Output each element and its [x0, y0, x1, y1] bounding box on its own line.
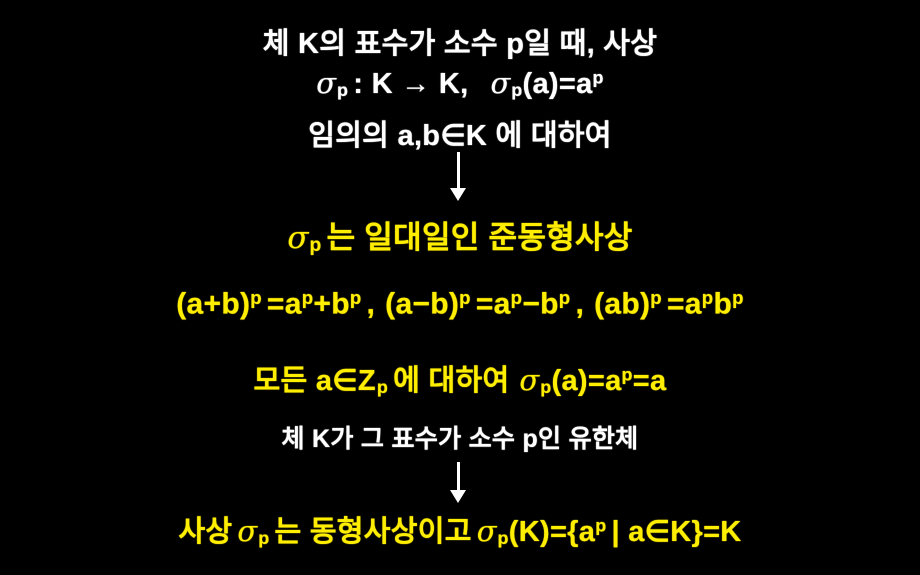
identity-1-eq: =a: [267, 288, 302, 321]
identity-1-plus: +b: [313, 288, 349, 321]
fermat-little-theorem-line: 모든 a∈Zp에 대하여σp(a)=ap=a: [0, 357, 920, 399]
arrow-head: [450, 490, 466, 503]
exponent-p: p: [593, 68, 604, 88]
freshmans-dream-identities: (a+b)p=ap+bp,(a−b)p=ap−bp,(ab)p=apbp: [0, 287, 920, 322]
sigma-symbol: σ: [490, 66, 510, 100]
line8-formula: (K)={a: [509, 516, 595, 548]
hypothesis-finite-field-line: 체 K가 그 표수가 소수 p인 유한체: [0, 419, 920, 455]
exponent-p: p: [622, 365, 633, 385]
frobenius-formula: (a)=a: [523, 68, 593, 100]
exponent-p: p: [250, 287, 262, 308]
line8-text-pre: 사상: [178, 516, 232, 548]
line1-text: 체 K의 표수가 소수 p일 때, 사상: [263, 28, 658, 60]
conclusion-line-injective-homomorphism: σp는 일대일인 준동형사상: [0, 212, 920, 257]
down-arrow-icon: [438, 462, 478, 504]
comma-separator: ,: [367, 288, 376, 321]
exponent-p: p: [511, 287, 523, 308]
line6-formula-end: =a: [633, 365, 667, 397]
line3-text: 임의의 a,b∈K 에 대하여: [308, 120, 612, 152]
exponent-p: p: [459, 287, 471, 308]
identity-3-eq: =a: [667, 288, 702, 321]
sigma-symbol: σ: [237, 514, 257, 548]
identity-1-base: (a+b): [176, 288, 250, 321]
statement-line-3: 임의의 a,b∈K 에 대하여: [0, 112, 920, 154]
line6-formula: (a)=a: [552, 365, 622, 397]
arrow-head: [450, 188, 466, 201]
sigma-symbol: σ: [519, 363, 539, 397]
line6-text-mid: 에 대하여: [393, 365, 509, 397]
sigma-subscript-p: p: [540, 377, 551, 397]
arrow-shaft: [457, 152, 460, 192]
exponent-p: p: [350, 287, 362, 308]
sigma-subscript-p: p: [310, 235, 322, 256]
statement-line-1: 체 K의 표수가 소수 p일 때, 사상: [0, 20, 920, 62]
statement-line-2-map-definition: σp: K → K,σp(a)=ap: [0, 66, 920, 101]
line6-text-pre: 모든 a∈Z: [254, 365, 376, 397]
sigma-subscript-p: p: [498, 528, 509, 548]
sigma-subscript-p: p: [258, 528, 269, 548]
conclusion-isomorphism-line: 사상σp는 동형사상이고σp(K)={ap| a∈K}=K: [0, 508, 920, 550]
identity-3-b: b: [713, 288, 732, 321]
sigma-subscript-p: p: [337, 80, 348, 100]
line7-text: 체 K가 그 표수가 소수 p인 유한체: [281, 425, 638, 453]
exponent-p: p: [302, 287, 314, 308]
identity-2-eq: =a: [476, 288, 511, 321]
exponent-p: p: [650, 287, 662, 308]
sigma-symbol: σ: [316, 66, 336, 100]
z-subscript-p: p: [377, 377, 388, 397]
line8-formula-end: | a∈K}=K: [611, 516, 741, 548]
exponent-p: p: [732, 287, 744, 308]
down-arrow-icon: [438, 152, 478, 202]
map-arrow-text: : K → K,: [353, 68, 468, 100]
line4-text: 는 일대일인 준동형사상: [327, 220, 633, 255]
exponent-p: p: [702, 287, 714, 308]
identity-2-minus: −b: [522, 288, 558, 321]
line8-text-mid: 는 동형사상이고: [274, 516, 471, 548]
comma-separator: ,: [575, 288, 584, 321]
exponent-p: p: [559, 287, 571, 308]
identity-2-base: (a−b): [385, 288, 459, 321]
sigma-symbol: σ: [477, 514, 497, 548]
slide-canvas: 체 K의 표수가 소수 p일 때, 사상 σp: K → K,σp(a)=ap …: [0, 0, 920, 575]
exponent-p: p: [595, 516, 606, 536]
sigma-symbol: σ: [287, 220, 308, 256]
identity-3-base: (ab): [594, 288, 650, 321]
sigma-subscript-p: p: [511, 80, 522, 100]
